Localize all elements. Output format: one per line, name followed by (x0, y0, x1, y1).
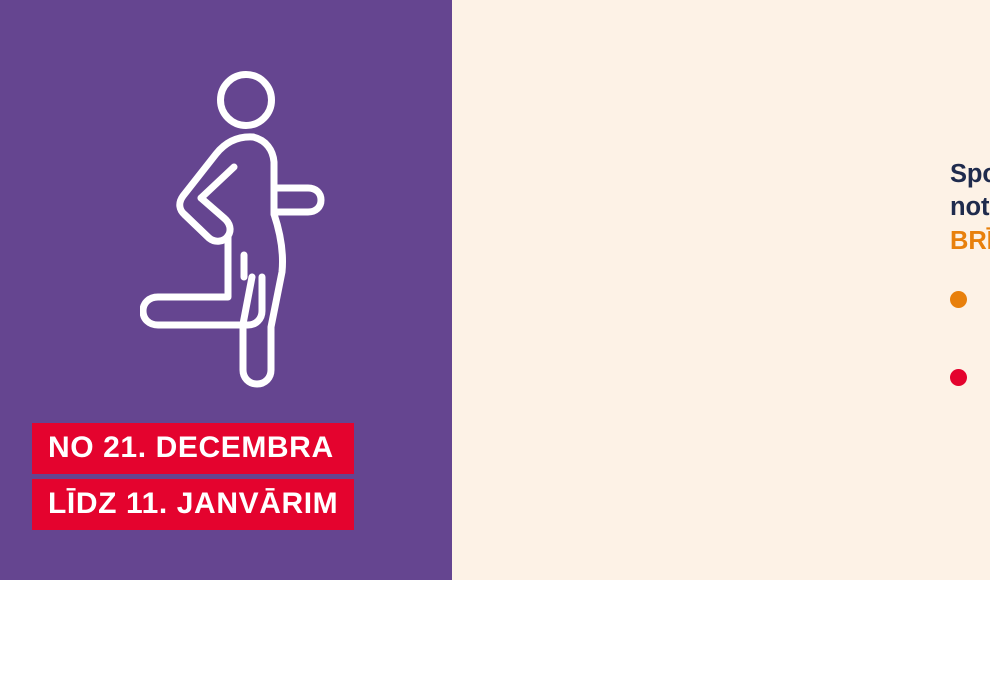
red-bullet-icon (950, 369, 967, 386)
footer: Aktuālā informācija par COVID-19 www.spk… (0, 580, 990, 700)
running-person-icon (140, 62, 345, 392)
list-item: ārā vienkopus ne vairāk kā 10 personas (… (950, 286, 990, 335)
right-content-panel: Sporta treniņi amatieriem notiek ATTĀLIN… (452, 0, 990, 580)
page-title: Sporta treniņi amatieriem notiek ATTĀLIN… (950, 158, 990, 258)
bullet-list: ārā vienkopus ne vairāk kā 10 personas (… (950, 286, 990, 414)
headline-highlight-2: BRĪVĀ DABĀ (950, 227, 990, 255)
headline-part-1: Sporta treniņi amatieriem (950, 160, 990, 188)
poster-body: NO 21. DECEMBRA LĪDZ 11. JANVĀRIM Sporta… (0, 0, 990, 580)
list-item: Telpās nedarbojas trenažieru zāles, neno… (950, 364, 990, 413)
left-purple-panel: NO 21. DECEMBRA LĪDZ 11. JANVĀRIM (0, 0, 452, 580)
orange-bullet-icon (950, 291, 967, 308)
date-banner-line-1: NO 21. DECEMBRA (32, 423, 354, 474)
covid-info-poster: NO 21. DECEMBRA LĪDZ 11. JANVĀRIM Sporta… (0, 0, 990, 700)
date-banner-line-2: LĪDZ 11. JANVĀRIM (32, 479, 354, 530)
headline-part-2: notiek (950, 193, 990, 221)
date-banner: NO 21. DECEMBRA LĪDZ 11. JANVĀRIM (32, 423, 354, 530)
